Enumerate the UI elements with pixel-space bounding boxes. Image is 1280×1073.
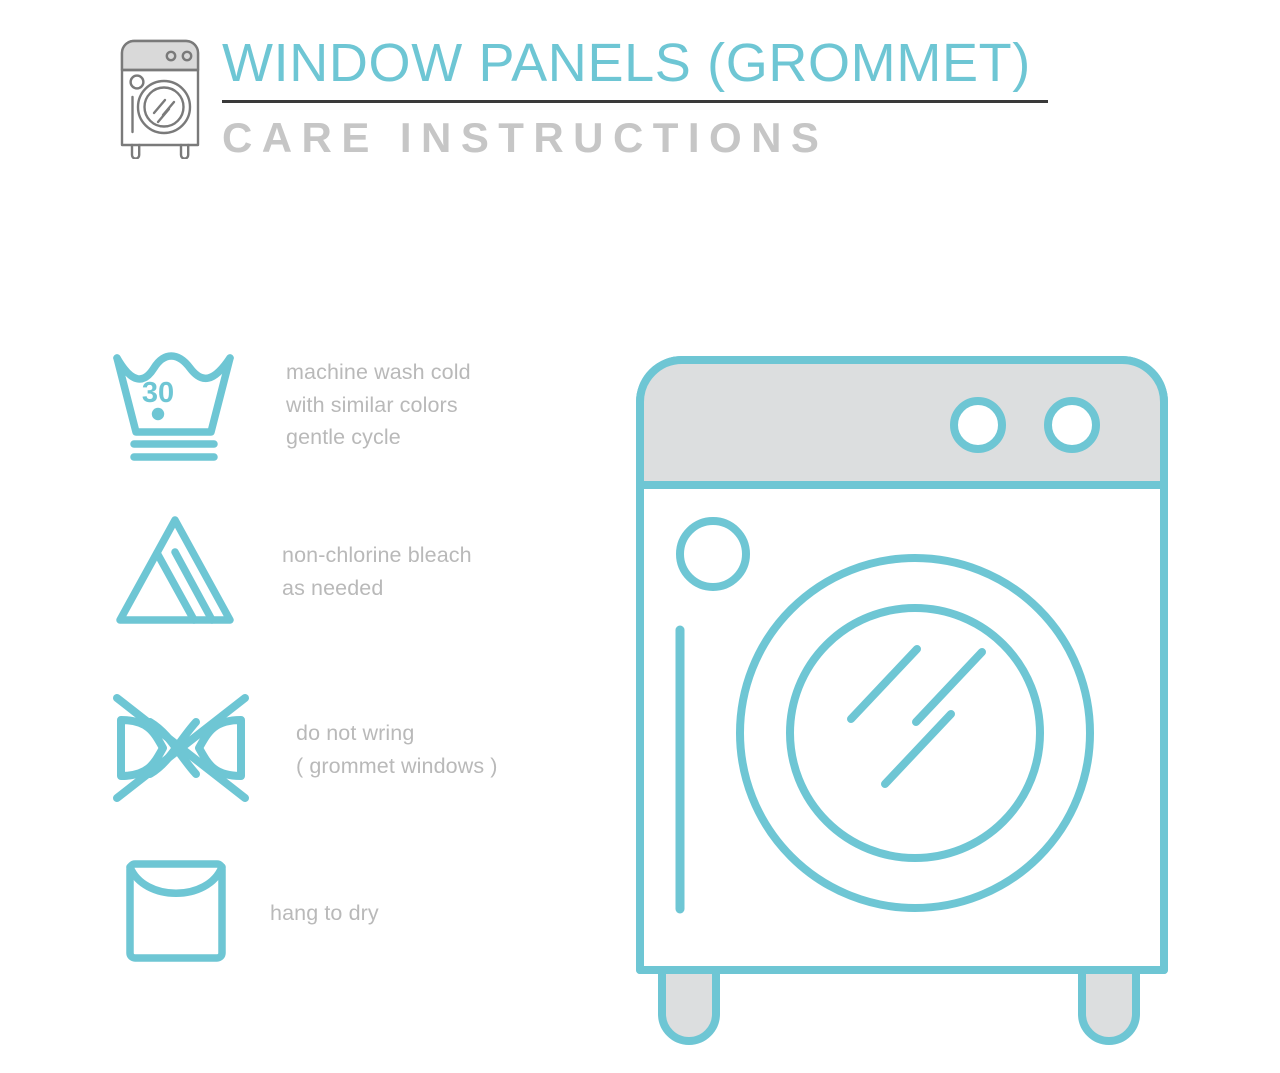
washing-machine-icon: [108, 27, 212, 159]
detergent-dispenser-circle: [680, 521, 746, 587]
care-instruction-text: do not wring ( grommet windows ): [296, 717, 498, 782]
care-instruction-row: hang to dry: [0, 848, 600, 978]
header-text-block: WINDOW PANELS (GROMMET) CARE INSTRUCTION…: [222, 32, 1062, 161]
care-instruction-row: non-chlorine bleach as needed: [0, 507, 600, 637]
wash-temperature-label: 30: [142, 377, 174, 409]
non-chlorine-bleach-icon: [112, 512, 238, 633]
page-title: WINDOW PANELS (GROMMET): [222, 32, 1062, 96]
washing-machine-illustration: [632, 352, 1172, 1052]
page-subtitle: CARE INSTRUCTIONS: [222, 114, 1062, 161]
hang-to-dry-icon: [124, 858, 228, 969]
care-instruction-text: non-chlorine bleach as needed: [282, 539, 472, 604]
knob-left: [954, 401, 1002, 449]
do-not-wring-icon: [108, 692, 254, 809]
title-divider: [222, 100, 1048, 103]
care-instruction-row: 30 machine wash cold with similar colors…: [0, 340, 600, 470]
care-instruction-text: hang to dry: [270, 897, 379, 930]
care-instruction-text: machine wash cold with similar colors ge…: [286, 356, 471, 454]
page-header: WINDOW PANELS (GROMMET) CARE INSTRUCTION…: [0, 0, 1280, 180]
care-instruction-row: do not wring ( grommet windows ): [0, 685, 600, 815]
machine-wash-30-icon: 30: [110, 344, 238, 467]
knob-right: [1048, 401, 1096, 449]
